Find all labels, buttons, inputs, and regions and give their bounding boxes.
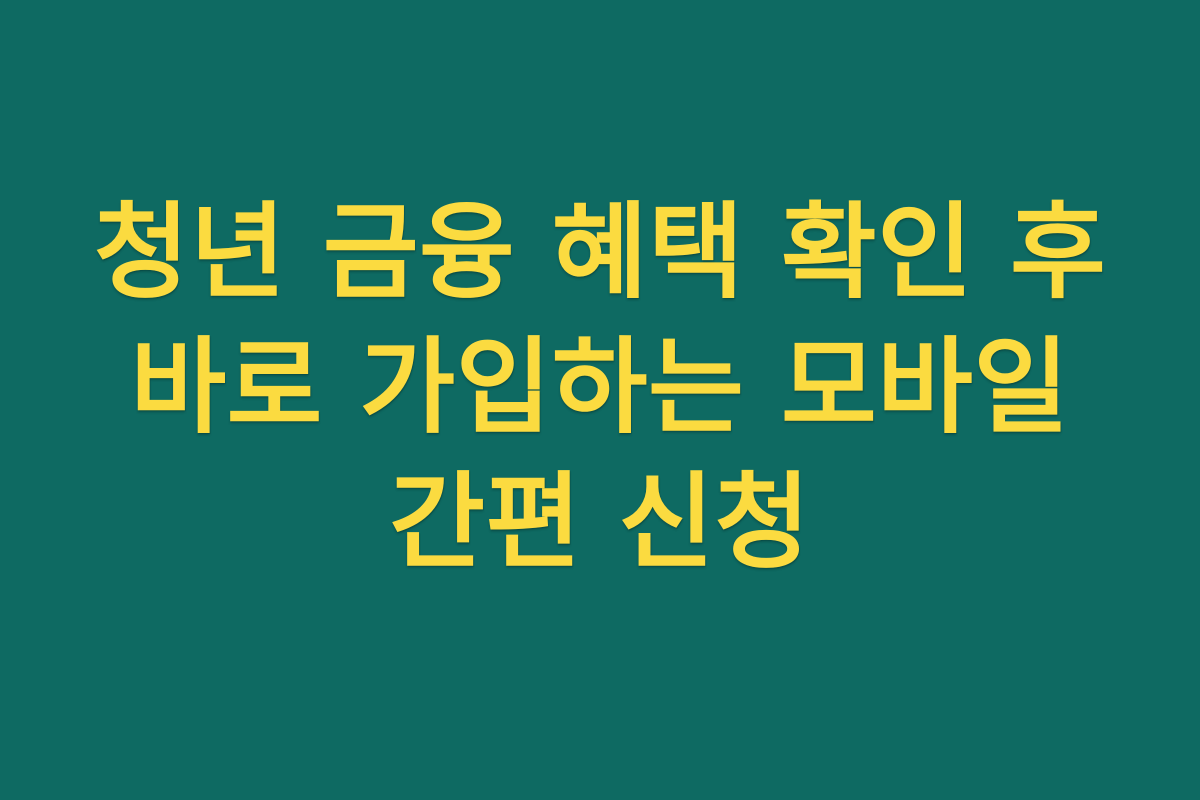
- promo-banner: 청년 금융 혜택 확인 후 바로 가입하는 모바일 간편 신청: [0, 0, 1200, 800]
- headline-line-2: 바로 가입하는 모바일: [60, 320, 1140, 455]
- headline-line-1: 청년 금융 혜택 확인 후: [60, 185, 1140, 320]
- headline: 청년 금융 혜택 확인 후 바로 가입하는 모바일 간편 신청: [60, 185, 1140, 590]
- headline-line-3: 간편 신청: [60, 455, 1140, 590]
